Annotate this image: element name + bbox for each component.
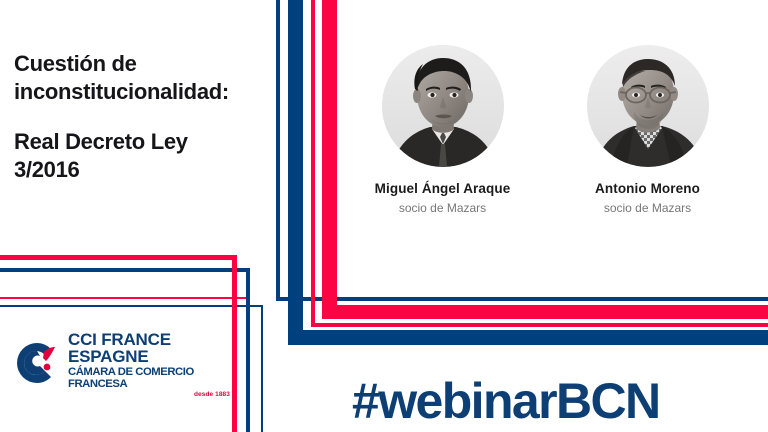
speaker-role: socio de Mazars: [353, 201, 533, 215]
headline-line-2: inconstitucionalidad:: [14, 78, 264, 106]
stripe-red-thick: [322, 0, 337, 319]
speaker-name: Miguel Ángel Araque: [353, 181, 533, 196]
cci-logo-mark-icon: [14, 340, 60, 391]
headline-line-4: 3/2016: [14, 156, 264, 184]
band-red-thin: [311, 323, 768, 327]
headline-line-3: Real Decreto Ley: [14, 128, 264, 156]
cci-logo-line-2: CÁMARA DE COMERCIO FRANCESA: [68, 367, 230, 390]
speaker-role: socio de Mazars: [558, 201, 738, 215]
cci-logo-line-1: CCI FRANCE ESPAGNE: [68, 331, 230, 365]
cci-logo-wordmark: CCI FRANCE ESPAGNE CÁMARA DE COMERCIO FR…: [68, 331, 230, 398]
portrait-photo-icon: [382, 45, 504, 167]
band-blue-thick: [288, 330, 768, 345]
avatar: [382, 45, 504, 167]
speaker-card: Antonio Moreno socio de Mazars: [558, 45, 738, 215]
portrait-photo-icon: [587, 45, 709, 167]
stripe-blue-thick: [288, 0, 303, 345]
webinar-slide: Cuestión de inconstitucionalidad: Real D…: [0, 0, 768, 432]
speaker-card: Miguel Ángel Araque socio de Mazars: [353, 45, 533, 215]
speakers-list: Miguel Ángel Araque socio de Mazars: [340, 45, 750, 215]
hashtag-label: #webinarBCN: [352, 372, 659, 430]
avatar: [587, 45, 709, 167]
headline-line-1: Cuestión de: [14, 50, 264, 78]
band-red-thick: [322, 305, 768, 319]
page-title: Cuestión de inconstitucionalidad: Real D…: [14, 50, 264, 185]
stripe-blue-thin: [276, 0, 280, 301]
band-blue-thin: [276, 297, 768, 301]
stripe-red-thin: [311, 0, 315, 327]
cci-france-espagne-logo: CCI FRANCE ESPAGNE CÁMARA DE COMERCIO FR…: [14, 338, 230, 392]
speaker-name: Antonio Moreno: [558, 181, 738, 196]
cci-logo-line-3: desde 1883: [68, 392, 230, 399]
